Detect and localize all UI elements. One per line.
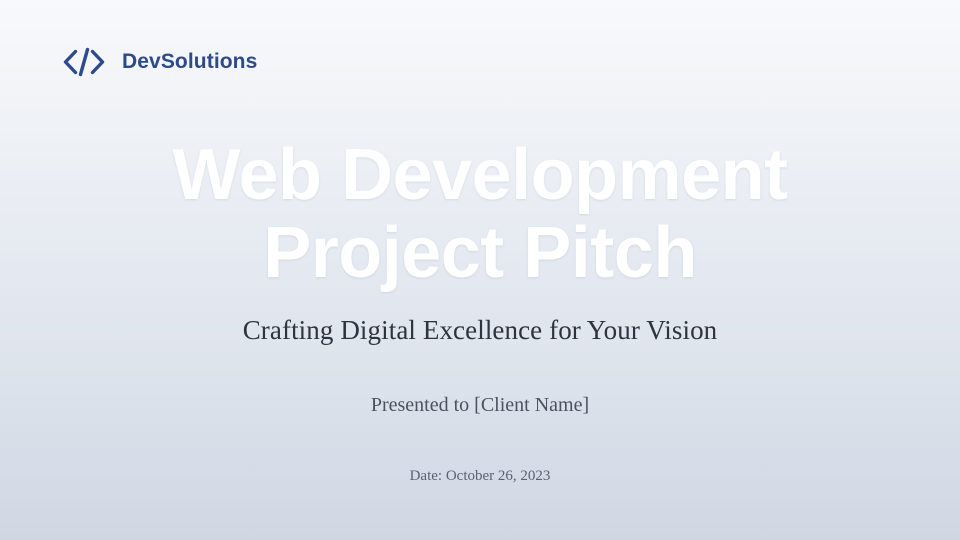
- page-title-line-2: Project Pitch: [40, 214, 920, 292]
- date-text: Date: October 26, 2023: [40, 466, 920, 486]
- title-slide: DevSolutions Web Development Project Pit…: [0, 0, 960, 540]
- page-title: Web Development Project Pitch: [40, 136, 920, 292]
- brand-logo[interactable]: DevSolutions: [60, 43, 257, 81]
- brand-name: DevSolutions: [122, 50, 257, 74]
- page-title-line-1: Web Development: [40, 136, 920, 214]
- hero-block: Web Development Project Pitch Crafting D…: [0, 136, 960, 486]
- page-subtitle: Crafting Digital Excellence for Your Vis…: [40, 313, 920, 347]
- presented-to-text: Presented to [Client Name]: [40, 392, 920, 418]
- code-brackets-icon: [60, 43, 108, 81]
